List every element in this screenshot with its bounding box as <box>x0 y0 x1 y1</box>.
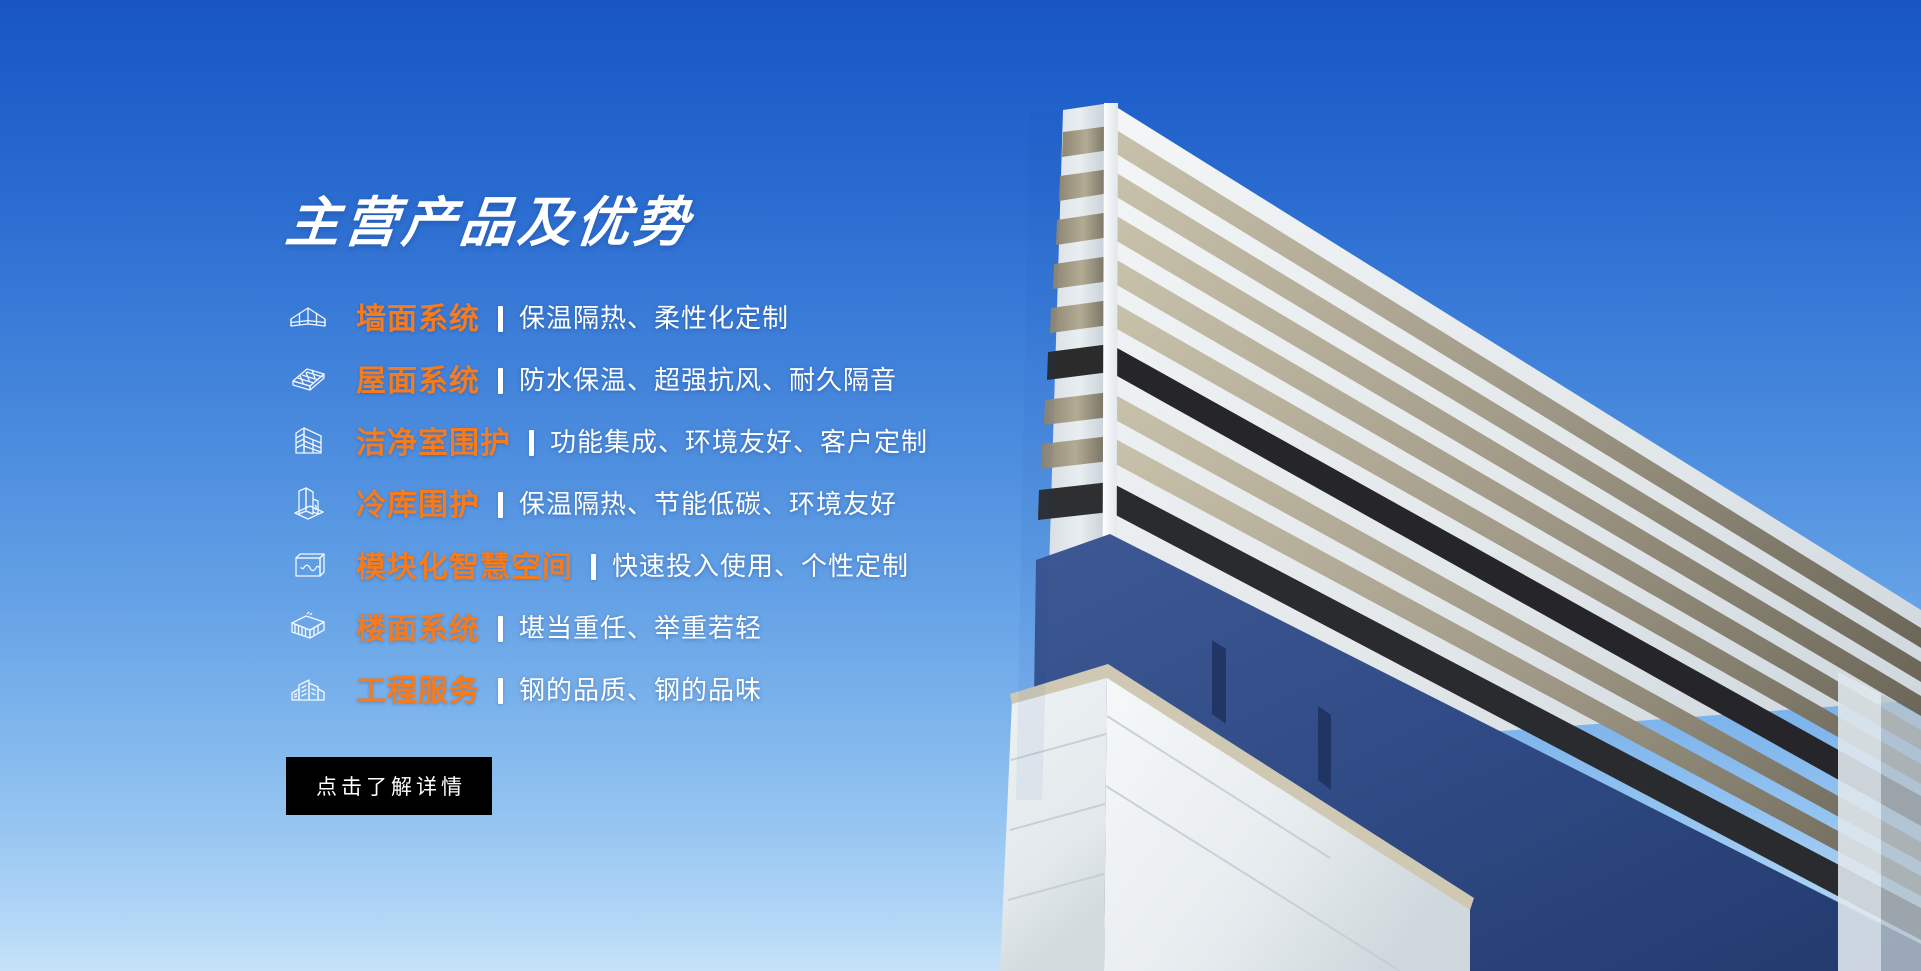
feature-desc: 快速投入使用、个性定制 <box>612 546 909 583</box>
feature-name: 冷库围护 <box>356 480 480 524</box>
feature-separator <box>498 492 503 518</box>
learn-more-button[interactable]: 点击了解详情 <box>286 757 492 815</box>
feature-name: 洁净室围护 <box>356 418 511 462</box>
list-item[interactable]: 屋面系统 防水保温、超强抗风、耐久隔音 <box>286 347 1226 409</box>
feature-separator <box>529 430 534 456</box>
feature-desc: 功能集成、环境友好、客户定制 <box>550 422 928 459</box>
feature-name: 模块化智慧空间 <box>356 542 573 586</box>
feature-desc: 防水保温、超强抗风、耐久隔音 <box>519 360 897 397</box>
hero-content: 主营产品及优势 墙面系统 保温隔热、柔性化定制 <box>286 196 1226 815</box>
list-item[interactable]: 洁净室围护 功能集成、环境友好、客户定制 <box>286 409 1226 471</box>
modular-smart-space-icon <box>286 542 330 586</box>
feature-name: 屋面系统 <box>356 356 480 400</box>
list-item[interactable]: 工程服务 钢的品质、钢的品味 <box>286 657 1226 719</box>
feature-separator <box>591 554 596 580</box>
floor-system-icon <box>286 604 330 648</box>
list-item[interactable]: 模块化智慧空间 快速投入使用、个性定制 <box>286 533 1226 595</box>
feature-desc: 钢的品质、钢的品味 <box>519 670 762 707</box>
roof-system-icon <box>286 356 330 400</box>
feature-name: 工程服务 <box>356 666 480 710</box>
list-item[interactable]: 楼面系统 堪当重任、举重若轻 <box>286 595 1226 657</box>
page-title: 主营产品及优势 <box>283 196 1229 251</box>
feature-separator <box>498 368 503 394</box>
feature-desc: 保温隔热、节能低碳、环境友好 <box>519 484 897 521</box>
cold-storage-enclosure-icon <box>286 480 330 524</box>
feature-desc: 保温隔热、柔性化定制 <box>519 298 789 335</box>
feature-name: 楼面系统 <box>356 604 480 648</box>
feature-separator <box>498 678 503 704</box>
feature-separator <box>498 616 503 642</box>
feature-list: 墙面系统 保温隔热、柔性化定制 屋面系统 防水保温、超强抗风、 <box>286 285 1226 719</box>
feature-name: 墙面系统 <box>356 294 480 338</box>
wall-system-icon <box>286 294 330 338</box>
engineering-service-icon <box>286 666 330 710</box>
list-item[interactable]: 冷库围护 保温隔热、节能低碳、环境友好 <box>286 471 1226 533</box>
hero-banner: 主营产品及优势 墙面系统 保温隔热、柔性化定制 <box>0 0 1921 971</box>
cleanroom-enclosure-icon <box>286 418 330 462</box>
list-item[interactable]: 墙面系统 保温隔热、柔性化定制 <box>286 285 1226 347</box>
feature-desc: 堪当重任、举重若轻 <box>519 608 762 645</box>
feature-separator <box>498 306 503 332</box>
